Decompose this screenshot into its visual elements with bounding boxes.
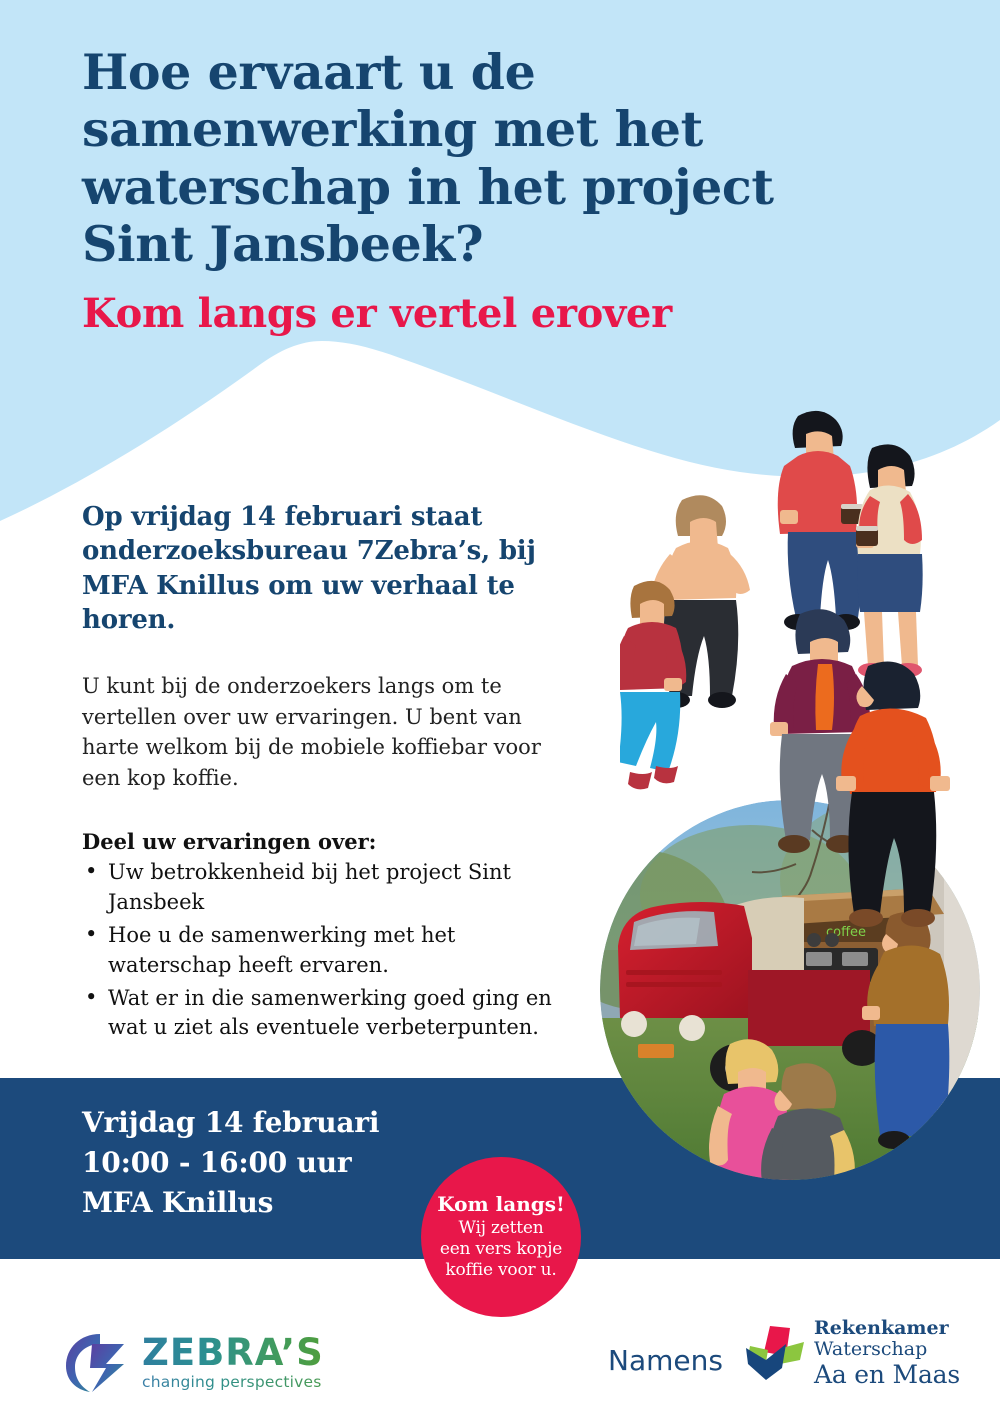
- list-item: Wat er in die samenwerking goed ging en …: [82, 984, 582, 1044]
- people-illustration: [620, 398, 1000, 1188]
- zebra-tagline: changing perspectives: [142, 1374, 324, 1391]
- status-badge: Kom langs! Wij zetten een vers kopje kof…: [421, 1157, 581, 1317]
- waterschap-logo: Rekenkamer Waterschap Aa en Maas: [742, 1318, 960, 1389]
- event-details: Vrijdag 14 februari 10:00 - 16:00 uur MF…: [82, 1103, 379, 1222]
- list-item: Uw betrokkenheid bij het project Sint Ja…: [82, 858, 582, 918]
- waterschap-mark-icon: [742, 1322, 808, 1384]
- event-time: 10:00 - 16:00 uur: [82, 1143, 379, 1183]
- intro-paragraph: U kunt bij de onderzoekers langs om te v…: [82, 671, 542, 793]
- zebra-logo: ZEBRA’S changing perspectives: [62, 1330, 324, 1396]
- headline-block: Hoe ervaart u de samenwerking met het wa…: [82, 44, 872, 337]
- badge-title: Kom langs!: [437, 1193, 565, 1216]
- waterschap-line-2: Waterschap: [814, 1339, 960, 1361]
- badge-line-3: koffie voor u.: [445, 1260, 556, 1281]
- page-title: Hoe ervaart u de samenwerking met het wa…: [82, 44, 872, 273]
- illustration-person-red-sweater: [778, 411, 863, 630]
- share-experiences-title: Deel uw ervaringen over:: [82, 827, 582, 856]
- body-content: Op vrijdag 14 februari staat onderzoeksb…: [82, 500, 582, 1046]
- experience-bullet-list: Uw betrokkenheid bij het project Sint Ja…: [82, 858, 582, 1043]
- badge-line-2: een vers kopje: [440, 1239, 562, 1260]
- zebra-wordmark: ZEBRA’S: [142, 1334, 324, 1371]
- event-location: MFA Knillus: [82, 1183, 379, 1223]
- poster-canvas: Hoe ervaart u de samenwerking met het wa…: [0, 0, 1000, 1416]
- illustration-person-beige-top: [856, 444, 923, 677]
- badge-line-1: Wij zetten: [459, 1218, 544, 1239]
- lead-paragraph: Op vrijdag 14 februari staat onderzoeksb…: [82, 500, 582, 637]
- list-item: Hoe u de samenwerking met het waterschap…: [82, 921, 582, 981]
- zebra-mark-icon: [62, 1330, 138, 1396]
- namens-label: Namens: [608, 1344, 723, 1377]
- event-date: Vrijdag 14 februari: [82, 1103, 379, 1143]
- waterschap-line-1: Rekenkamer: [814, 1318, 960, 1339]
- page-subtitle: Kom langs er vertel erover: [82, 291, 872, 337]
- waterschap-line-3: Aa en Maas: [814, 1361, 960, 1389]
